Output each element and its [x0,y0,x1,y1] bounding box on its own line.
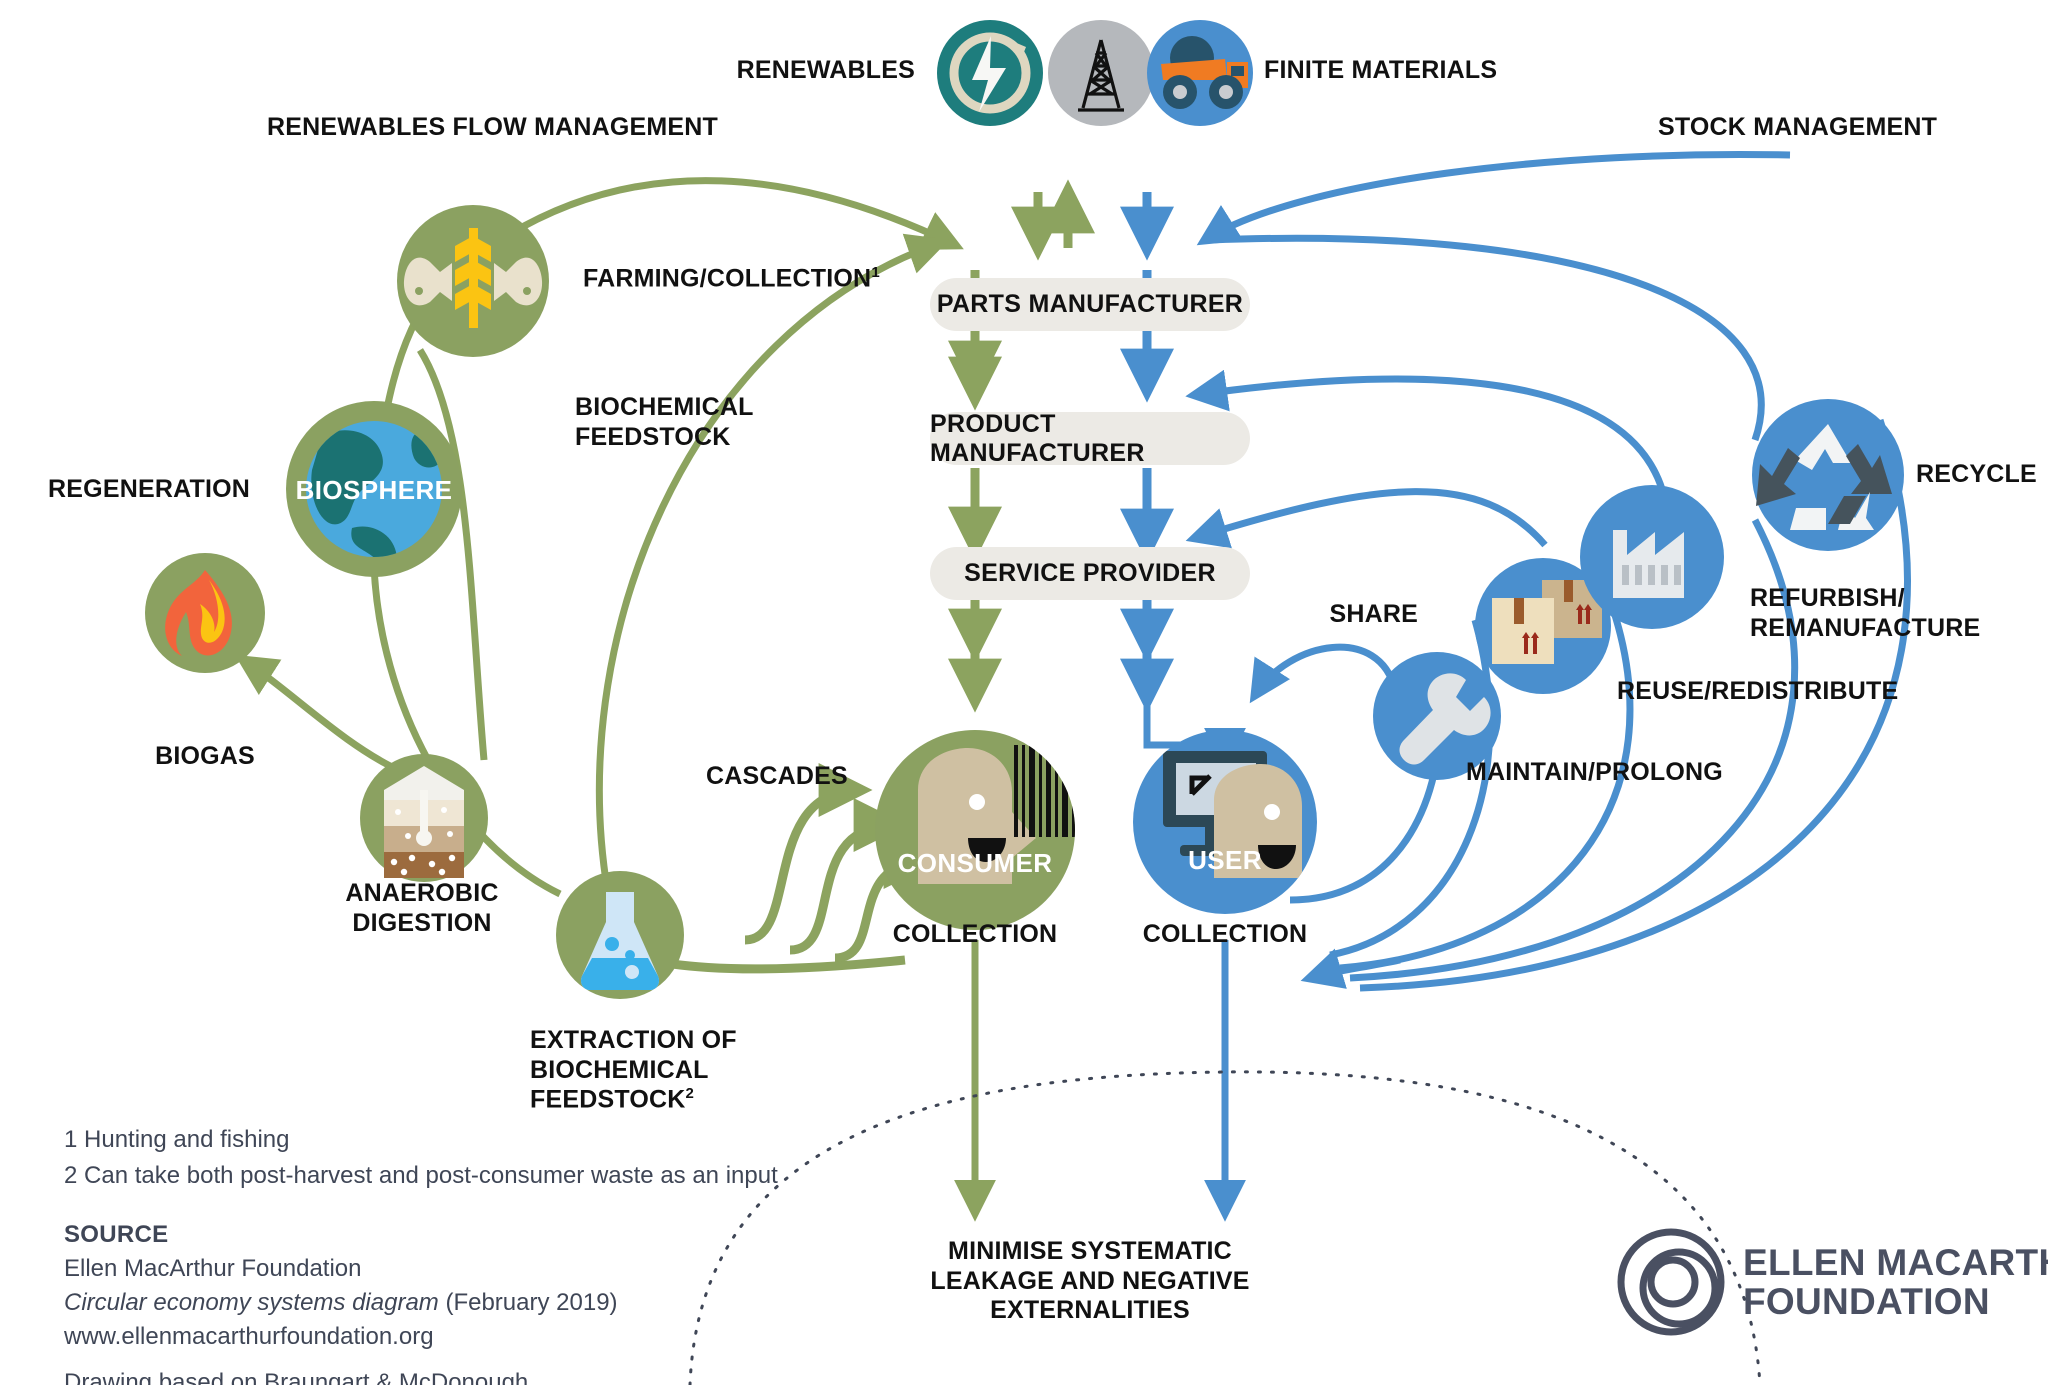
mining-truck-icon-circle [1147,20,1253,126]
recycle-label: RECYCLE [1916,460,2037,490]
source-work: Circular economy systems diagram (Februa… [64,1286,618,1320]
footnote-1: 1 Hunting and fishing [64,1126,290,1153]
emf-rings-logo-icon [1617,1228,1725,1336]
farming-collection-node [397,205,549,357]
biosphere-node-label: BIOSPHERE [296,475,453,506]
biochemical-feedstock-label: BIOCHEMICALFEEDSTOCK [575,393,754,452]
recycle-node [1752,399,1904,551]
biogas-label: BIOGAS [155,742,255,772]
parts-manufacturer-label: PARTS MANUFACTURER [937,290,1243,319]
consumer-node-label: CONSUMER [898,848,1053,879]
consumer-node [875,730,1093,930]
oil-rig-icon-circle [1048,20,1154,126]
footnote-marker-1: 1 [871,264,880,281]
footnotes: 1 Hunting and fishing2 Can take both pos… [64,1122,778,1194]
finite-materials-label: FINITE MATERIALS [1264,56,1497,86]
biogas-node [145,553,265,673]
minimise-leakage-label: MINIMISE SYSTEMATICLEAKAGE AND NEGATIVEE… [930,1237,1249,1326]
reuse-node [1580,485,1724,629]
renewables-icon-circle [937,20,1043,126]
feedstock-arrows [1038,192,1147,248]
source-work-date: (February 2019) [439,1289,618,1316]
source-block: SOURCE Ellen MacArthur Foundation Circul… [64,1218,618,1385]
refurbish-remanufacture-label: REFURBISH/REMANUFACTURE [1750,584,1980,643]
anaerobic-digestion-label: ANAEROBICDIGESTION [345,879,498,938]
circular-economy-diagram: RENEWABLES FINITE MATERIALS RENEWABLES F… [0,0,2048,1385]
regeneration-label: REGENERATION [48,475,250,505]
brand-text: ELLEN MACARTHURFOUNDATION [1743,1243,2048,1321]
footnote-2: 2 Can take both post-harvest and post-co… [64,1162,778,1189]
stock-management-heading: STOCK MANAGEMENT [1658,113,1937,143]
user-collection-label: COLLECTION [1143,920,1308,950]
source-url[interactable]: www.ellenmacarthurfoundation.org [64,1320,618,1354]
farming-collection-label: FARMING/COLLECTION1 [583,264,880,294]
consumer-collection-label: COLLECTION [893,920,1058,950]
service-provider-pill[interactable]: SERVICE PROVIDER [930,547,1250,600]
maintain-prolong-label: MAINTAIN/PROLONG [1466,758,1723,788]
share-label: SHARE [1329,600,1418,630]
farming-collection-text: FARMING/COLLECTION [583,264,871,292]
brand-lockup: ELLEN MACARTHURFOUNDATION [1617,1228,2048,1336]
anaerobic-digestion-node [360,754,488,882]
user-node [1133,730,1317,914]
service-provider-label: SERVICE PROVIDER [964,559,1216,588]
user-node-label: USER [1188,845,1262,876]
source-heading: SOURCE [64,1218,618,1252]
source-work-title: Circular economy systems diagram [64,1289,439,1316]
footnote-marker-2: 2 [686,1085,695,1102]
renewables-flow-management-heading: RENEWABLES FLOW MANAGEMENT [267,113,718,143]
renewables-label: RENEWABLES [737,56,915,86]
parts-manufacturer-pill[interactable]: PARTS MANUFACTURER [930,278,1250,331]
extraction-label: EXTRACTION OFBIOCHEMICALFEEDSTOCK2 [530,1026,737,1115]
product-manufacturer-pill[interactable]: PRODUCT MANUFACTURER [930,412,1250,465]
reuse-redistribute-label: REUSE/REDISTRIBUTE [1617,677,1898,707]
source-drawing-1: Drawing based on Braungart & McDonough, [64,1366,618,1385]
extraction-node [556,871,684,999]
source-org: Ellen MacArthur Foundation [64,1252,618,1286]
brand-line-2: FOUNDATION [1743,1281,1990,1322]
product-manufacturer-label: PRODUCT MANUFACTURER [930,410,1250,468]
brand-line-1: ELLEN MACARTHUR [1743,1242,2048,1283]
cascades-label: CASCADES [706,762,848,792]
